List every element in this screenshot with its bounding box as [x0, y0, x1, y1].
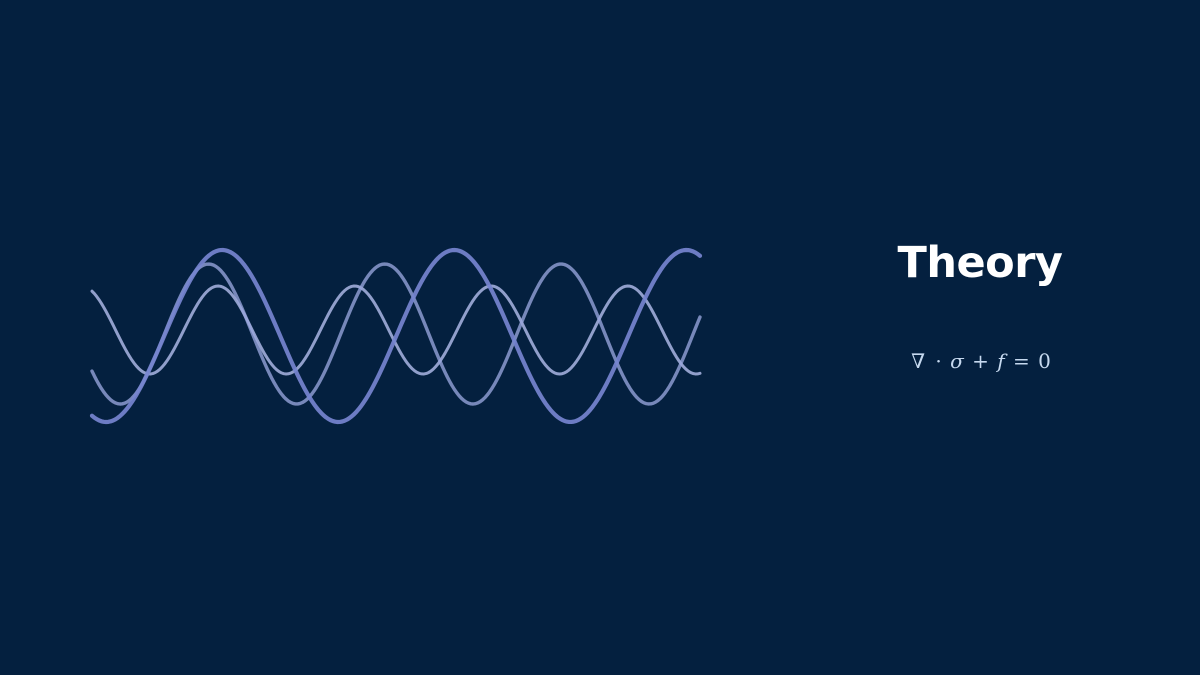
wave-line-3: [92, 250, 700, 422]
wave-series-group: [92, 250, 700, 422]
formula-token-1: ·: [933, 349, 943, 373]
slide-root: Theory ∇ · σ + f = 0: [0, 0, 1200, 675]
formula-token-0: ∇: [909, 349, 927, 373]
formula-token-6: 0: [1038, 349, 1051, 373]
wave-chart-svg: [0, 0, 760, 675]
wave-line-1: [92, 286, 700, 374]
formula-token-4: f: [997, 349, 1004, 373]
wave-illustration: [0, 0, 760, 675]
text-panel: Theory ∇ · σ + f = 0: [760, 0, 1200, 675]
formula-token-2: σ: [950, 349, 964, 373]
slide-title: Theory: [760, 240, 1200, 287]
slide-formula: ∇ · σ + f = 0: [760, 348, 1200, 374]
formula-token-5: =: [1011, 349, 1032, 373]
formula-token-3: +: [970, 349, 991, 373]
